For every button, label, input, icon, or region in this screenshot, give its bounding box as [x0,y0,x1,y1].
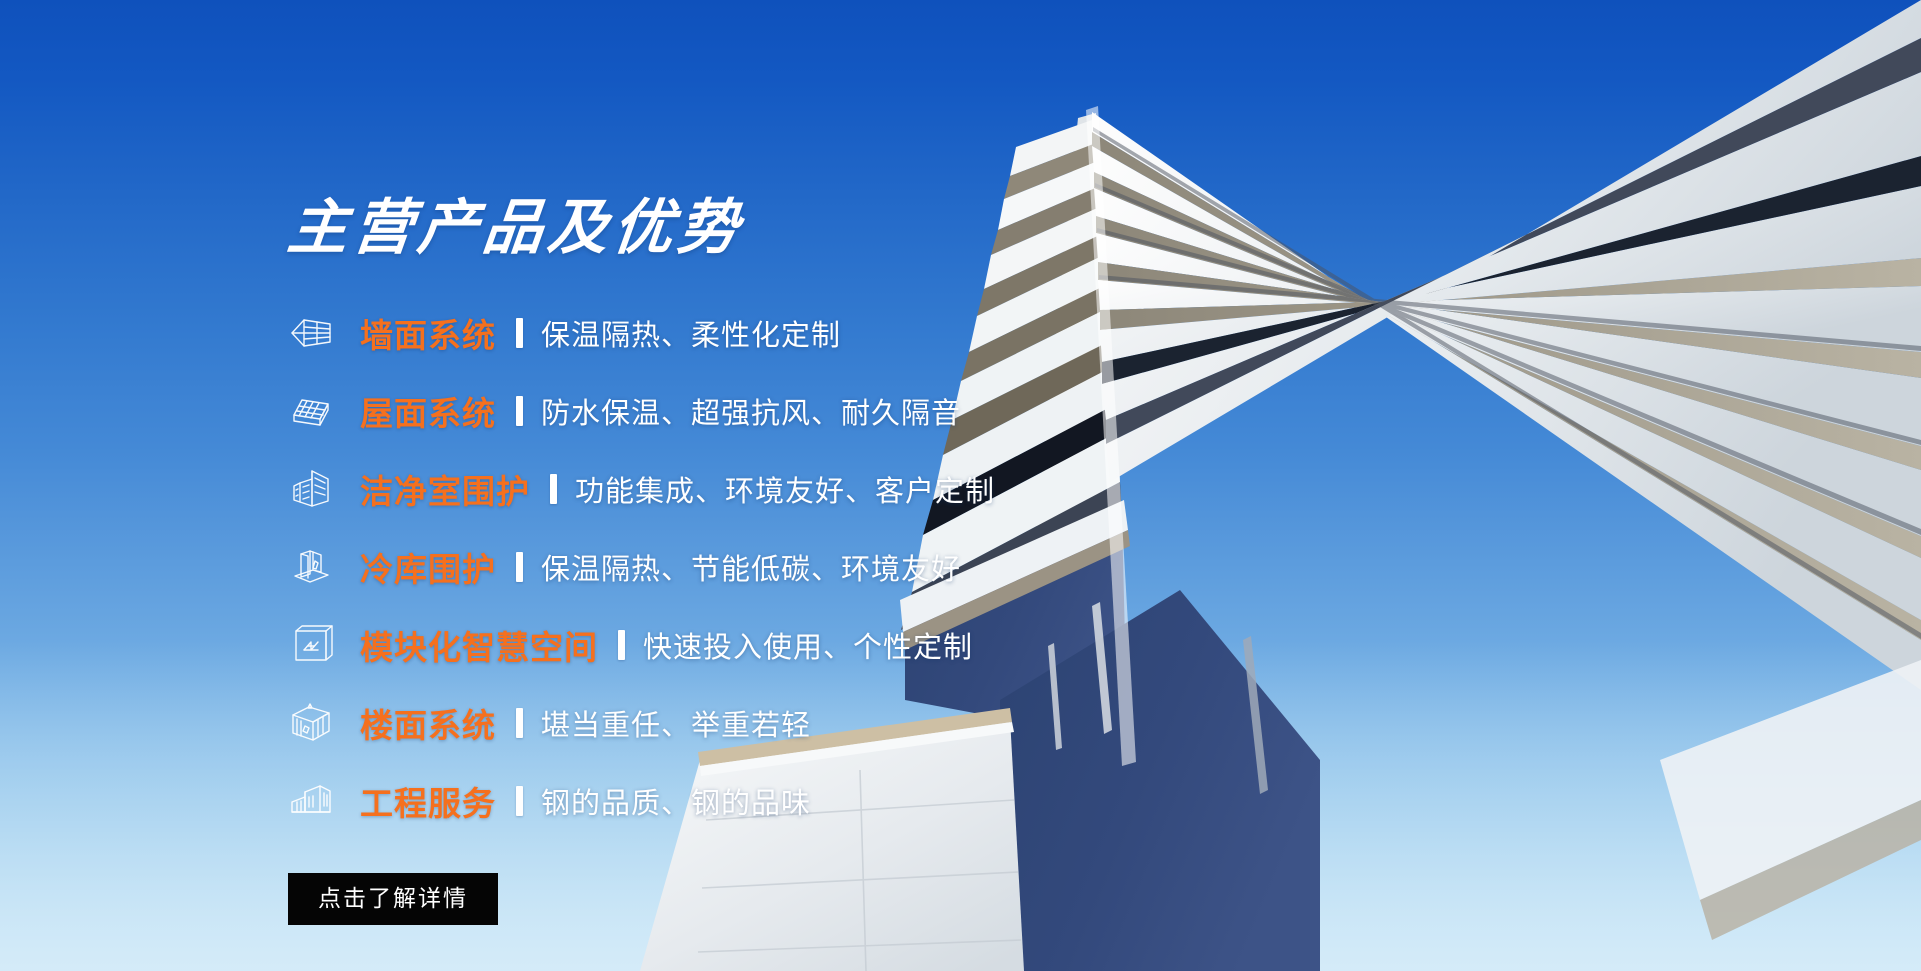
floor-system-icon [288,700,334,746]
feature-description: 保温隔热、柔性化定制 [541,312,841,354]
feature-separator-bar [550,474,557,504]
feature-item-cold-storage-enclosure[interactable]: 冷库围护 保温隔热、节能低碳、环境友好 [288,535,1188,599]
feature-description: 快速投入使用、个性定制 [643,624,973,666]
cta-wrapper: 点击了解详情 [288,873,1188,925]
cleanroom-enclosure-icon [288,466,334,512]
wall-system-icon [288,310,334,356]
feature-title: 冷库围护 [360,543,496,591]
cold-storage-enclosure-icon [288,544,334,590]
feature-list: 墙面系统 保温隔热、柔性化定制 [288,301,1188,833]
feature-item-floor-system[interactable]: 楼面系统 堪当重任、举重若轻 [288,691,1188,755]
page-title: 主营产品及优势 [285,196,1192,259]
feature-separator-bar [516,786,523,816]
feature-separator-bar [516,396,523,426]
feature-title: 模块化智慧空间 [360,621,598,669]
feature-separator-bar [516,318,523,348]
product-advantage-banner: 主营产品及优势 墙面系统 保温隔热、柔性化定制 [0,0,1921,971]
feature-item-wall-system[interactable]: 墙面系统 保温隔热、柔性化定制 [288,301,1188,365]
feature-description: 钢的品质、钢的品味 [541,780,811,822]
feature-title: 楼面系统 [360,699,496,747]
modular-smart-space-icon [288,622,334,668]
feature-item-engineering-service[interactable]: 工程服务 钢的品质、钢的品味 [288,769,1188,833]
feature-title: 洁净室围护 [360,465,530,513]
learn-more-button[interactable]: 点击了解详情 [288,873,498,925]
feature-separator-bar [516,708,523,738]
engineering-service-icon [288,778,334,824]
feature-item-cleanroom-enclosure[interactable]: 洁净室围护 功能集成、环境友好、客户定制 [288,457,1188,521]
banner-content: 主营产品及优势 墙面系统 保温隔热、柔性化定制 [288,196,1188,925]
feature-description: 防水保温、超强抗风、耐久隔音 [541,390,961,432]
feature-title: 屋面系统 [360,387,496,435]
feature-description: 堪当重任、举重若轻 [541,702,811,744]
feature-item-roof-system[interactable]: 屋面系统 防水保温、超强抗风、耐久隔音 [288,379,1188,443]
feature-separator-bar [516,552,523,582]
roof-system-icon [288,388,334,434]
feature-title: 工程服务 [360,777,496,825]
feature-title: 墙面系统 [360,309,496,357]
feature-description: 功能集成、环境友好、客户定制 [575,468,995,510]
feature-separator-bar [618,630,625,660]
feature-item-modular-smart-space[interactable]: 模块化智慧空间 快速投入使用、个性定制 [288,613,1188,677]
feature-description: 保温隔热、节能低碳、环境友好 [541,546,961,588]
